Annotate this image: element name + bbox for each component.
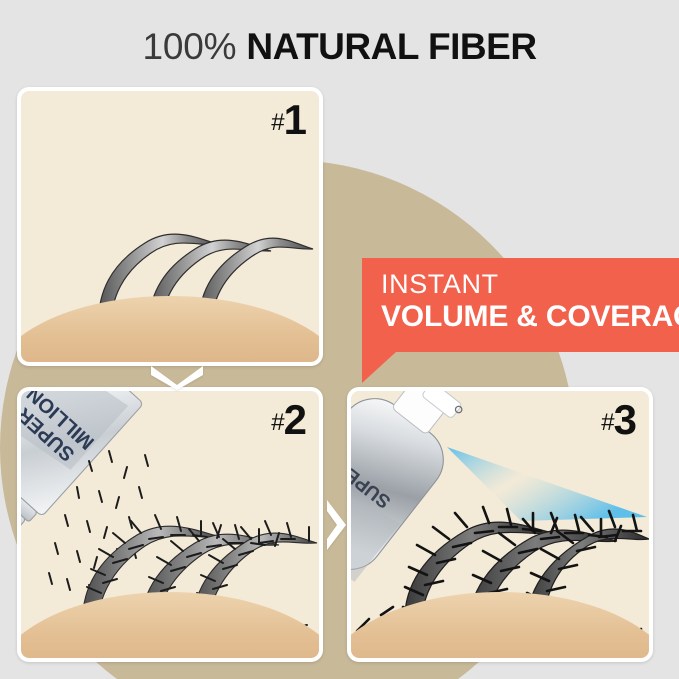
step-number-1: #1 xyxy=(271,99,306,141)
spray-cone xyxy=(447,447,647,521)
step-digit-3: 3 xyxy=(614,396,636,443)
step-hash-3: # xyxy=(601,409,613,436)
step-number-3: #3 xyxy=(601,399,636,441)
chevron-right-icon xyxy=(323,497,349,553)
infographic-root: 100% NATURAL FIBER xyxy=(0,0,679,679)
page-title-bold: NATURAL FIBER xyxy=(246,26,536,67)
step-number-2: #2 xyxy=(271,399,306,441)
chevron-down-icon xyxy=(148,362,206,390)
callout-coverage: COVERAGE xyxy=(546,300,679,333)
page-title-thin: 100% xyxy=(142,26,236,67)
shaker-bottle: SUPER MILLION xyxy=(21,391,144,543)
callout-line-2: VOLUME & COVERAGE xyxy=(381,299,679,335)
step-digit-1: 1 xyxy=(284,96,306,143)
spray-bottle: SUPER HAIR xyxy=(351,391,483,583)
page-title: 100% NATURAL FIBER xyxy=(0,25,679,69)
callout-banner: INSTANT VOLUME & COVERAGE xyxy=(362,258,679,352)
step-digit-2: 2 xyxy=(284,396,306,443)
callout-line-1: INSTANT xyxy=(381,269,679,299)
step-hash-2: # xyxy=(271,409,283,436)
callout-ampersand: & xyxy=(516,300,537,333)
step-hash-1: # xyxy=(271,109,283,136)
callout-volume: VOLUME xyxy=(381,300,508,333)
step-panel-3: SUPER HAIR xyxy=(347,387,653,662)
step-panel-1: #1 xyxy=(17,87,323,366)
step-panel-2: SUPER MILLION xyxy=(17,387,323,662)
